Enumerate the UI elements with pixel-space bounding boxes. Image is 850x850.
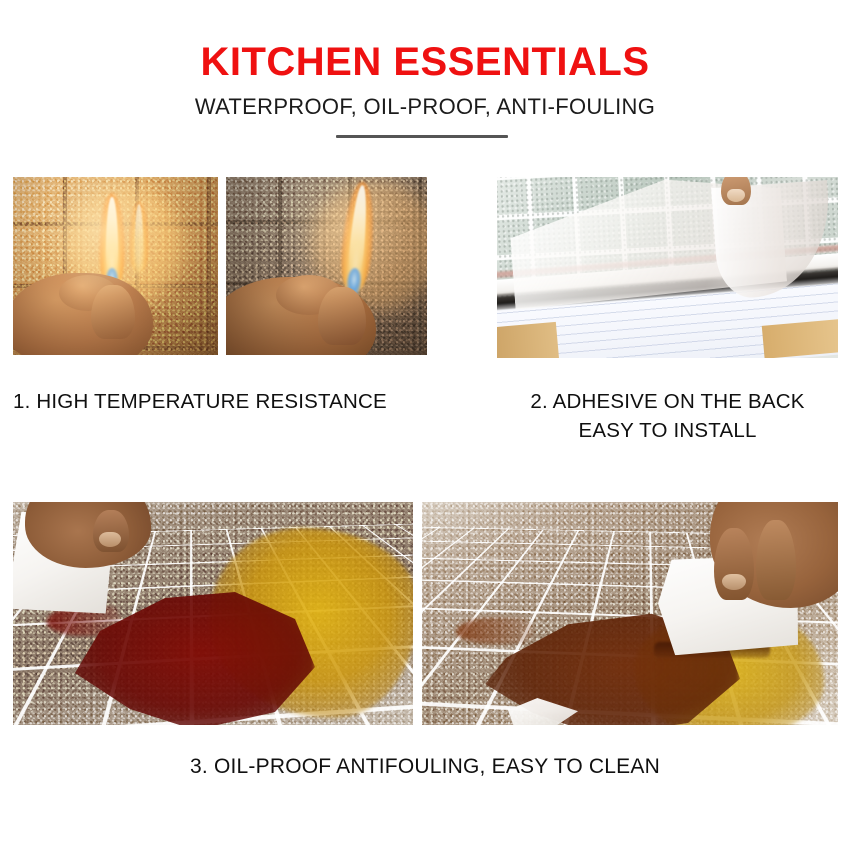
feature-caption-2-line2: EASY TO INSTALL [497,416,838,445]
feature-image-oil-spill-wiping [422,502,838,725]
oil-spill-splash [456,618,534,644]
page-title: KITCHEN ESSENTIALS [0,42,850,82]
feature-caption-2: 2. ADHESIVE ON THE BACK EASY TO INSTALL [497,387,838,445]
wood-desk-edge-right [762,318,838,358]
page-subtitle: WATERPROOF, OIL-PROOF, ANTI-FOULING [0,94,850,120]
feature-caption-2-line1: 2. ADHESIVE ON THE BACK [530,390,804,413]
feature-image-peel-backing-sticker [497,177,838,358]
hand-index-finger [756,520,796,600]
feature-image-flame-test-warm-tile [13,177,218,355]
feature-image-oil-spill-before [13,502,413,725]
wood-desk-edge-left [497,322,560,358]
infographic-page: KITCHEN ESSENTIALS WATERPROOF, OIL-PROOF… [0,0,850,850]
title-divider [336,135,508,138]
feature-image-flame-test-grey-tile [226,177,427,355]
feature-caption-3: 3. OIL-PROOF ANTIFOULING, EASY TO CLEAN [0,752,850,781]
feature-caption-1: 1. HIGH TEMPERATURE RESISTANCE [13,387,443,416]
